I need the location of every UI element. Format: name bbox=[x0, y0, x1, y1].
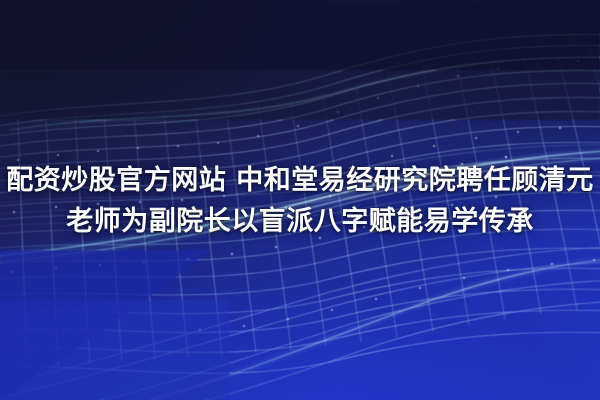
headline-line-1: 配资炒股官方网站 中和堂易经研究院聘任顾清元 bbox=[0, 160, 600, 202]
banner-headline: 配资炒股官方网站 中和堂易经研究院聘任顾清元 老师为副院长以盲派八字赋能易学传承 bbox=[0, 160, 600, 243]
promo-banner: 配资炒股官方网站 中和堂易经研究院聘任顾清元 老师为副院长以盲派八字赋能易学传承 bbox=[0, 0, 600, 400]
headline-line-2: 老师为副院长以盲派八字赋能易学传承 bbox=[0, 201, 600, 243]
